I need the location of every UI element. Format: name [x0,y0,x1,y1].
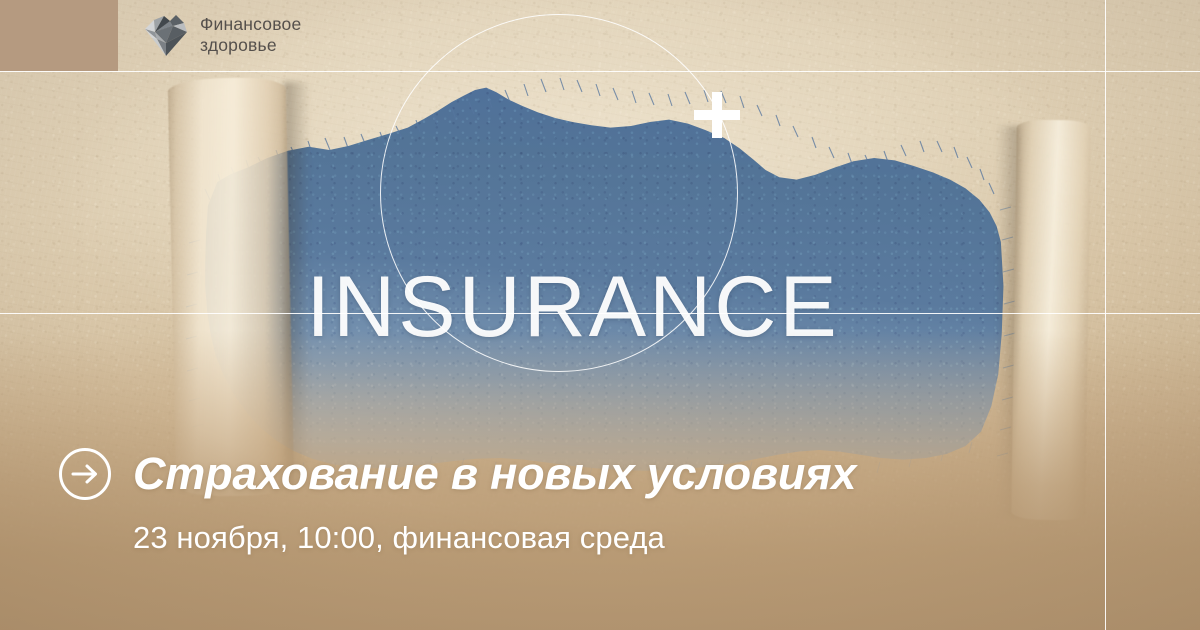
logo-color-block [0,0,118,71]
brand-logo[interactable]: Финансовое здоровье [143,12,301,58]
announcement-title: Страхование в новых условиях [133,447,856,501]
announcement-headline-row: Страхование в новых условиях [58,447,856,501]
heart-diamond-gem-icon [143,12,189,58]
promo-banner: INSURANCE Финансовое з [0,0,1200,630]
brand-name: Финансовое здоровье [200,14,301,56]
brand-name-line1: Финансовое [200,14,301,35]
arrow-right-circle-icon[interactable] [58,447,112,501]
announcement-subtitle: 23 ноября, 10:00, финансовая среда [133,518,665,558]
brand-name-line2: здоровье [200,35,301,56]
